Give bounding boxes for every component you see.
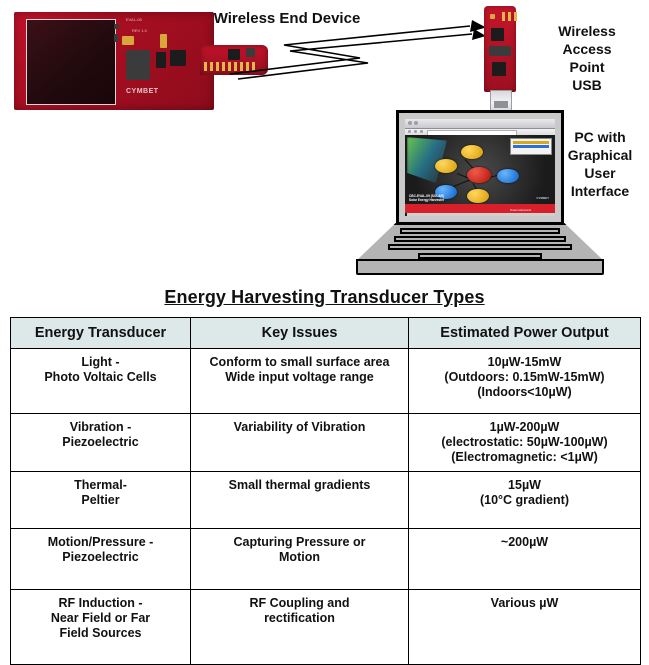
cell-line: Piezoelectric [15, 550, 186, 565]
dongle-ic-2 [489, 46, 511, 56]
gui-legend [510, 138, 552, 155]
cell-line: Motion [195, 550, 404, 565]
graph-node-blue[interactable] [497, 169, 519, 183]
browser-titlebar [405, 119, 555, 129]
table-header-row: Energy Transducer Key Issues Estimated P… [11, 318, 641, 349]
component-small-1 [114, 24, 119, 29]
cell-transducer: RF Induction - Near Field or Far Field S… [11, 590, 191, 665]
cell-key-issues: Small thermal gradients [191, 472, 409, 529]
cell-line: Piezoelectric [15, 435, 186, 450]
label-line: Interface [552, 182, 648, 200]
cell-transducer: Motion/Pressure - Piezoelectric [11, 529, 191, 590]
cell-line: RF Coupling and [195, 596, 404, 611]
cell-line: Thermal- [15, 478, 186, 493]
label-line: Point [528, 58, 646, 76]
graph-node-coordinator[interactable] [467, 167, 491, 183]
silkscreen-text-2: REV 1.0 [132, 28, 147, 33]
component-ic-1 [156, 52, 166, 68]
cell-line: Capturing Pressure or [195, 535, 404, 550]
energy-harvesting-table: Energy Transducer Key Issues Estimated P… [10, 317, 641, 665]
cell-transducer: Thermal- Peltier [11, 472, 191, 529]
silkscreen-text-1: EVAL-08 [126, 17, 142, 22]
label-line: Access [528, 40, 646, 58]
cell-line: Vibration - [15, 420, 186, 435]
cell-line: Conform to small surface area [195, 355, 404, 370]
solar-cell-panel [26, 19, 116, 105]
cell-line: Photo Voltaic Cells [15, 370, 186, 385]
component-gold-2 [160, 34, 167, 48]
harvester-gui: CBC-EVAL-09 (SOLAR) Solar Energy Harvest… [405, 135, 555, 216]
keyboard-row [394, 236, 566, 242]
cell-key-issues: Variability of Vibration [191, 414, 409, 472]
cell-line: (Outdoors: 0.15mW-15mW) [413, 370, 636, 385]
cell-line: (10°C gradient) [413, 493, 636, 508]
cell-line: Near Field or Far [15, 611, 186, 626]
cell-line: 1µW-200µW [413, 420, 636, 435]
laptop-screen: CBC-EVAL-09 (SOLAR) Solar Energy Harvest… [405, 119, 555, 216]
keyboard-row [400, 228, 560, 234]
cell-transducer: Light - Photo Voltaic Cells [11, 349, 191, 414]
browser-statusbar [407, 213, 555, 216]
component-battery [126, 50, 150, 80]
cell-power-output: ~200µW [409, 529, 641, 590]
system-diagram: EVAL-08 REV 1.0 CYMBET [0, 0, 649, 285]
dongle-pads [502, 12, 517, 21]
cell-line: Light - [15, 355, 186, 370]
table-row: Light - Photo Voltaic Cells Conform to s… [11, 349, 641, 414]
graph-node-yellow[interactable] [435, 159, 457, 173]
dongle-led [490, 14, 495, 19]
cell-transducer: Vibration - Piezoelectric [11, 414, 191, 472]
cell-line: 10µW-15mW [413, 355, 636, 370]
gui-vendor-mark: Texas Instruments [510, 209, 531, 212]
cell-line: (Electromagnetic: <1µW) [413, 450, 636, 465]
dongle-ic-3 [492, 62, 506, 76]
cell-key-issues: RF Coupling and rectification [191, 590, 409, 665]
component-ic-2 [170, 50, 186, 66]
keyboard-row [388, 244, 572, 250]
dongle-ic-1 [491, 28, 504, 41]
wireless-access-point-usb-image [484, 6, 516, 118]
cell-power-output: 1µW-200µW (electrostatic: 50µW-100µW) (E… [409, 414, 641, 472]
cell-line: Various µW [413, 596, 636, 611]
component-gold-1 [122, 36, 134, 45]
cell-line: Motion/Pressure - [15, 535, 186, 550]
cell-line: Variability of Vibration [195, 420, 404, 435]
table-row: Vibration - Piezoelectric Variability of… [11, 414, 641, 472]
gui-vendor-bar [405, 204, 555, 213]
cell-line: ~200µW [413, 535, 636, 550]
cell-line: Peltier [15, 493, 186, 508]
column-header-energy-transducer: Energy Transducer [11, 318, 191, 349]
cell-line: Field Sources [15, 626, 186, 641]
cymbet-logo-text: CYMBET [126, 88, 159, 95]
page-title: Energy Harvesting Transducer Types [0, 287, 649, 308]
cell-line: (electrostatic: 50µW-100µW) [413, 435, 636, 450]
cell-line: RF Induction - [15, 596, 186, 611]
cell-line: Wide input voltage range [195, 370, 404, 385]
label-wireless-access-point-usb: Wireless Access Point USB [528, 22, 646, 94]
component-small-2 [114, 34, 118, 42]
column-header-key-issues: Key Issues [191, 318, 409, 349]
dongle-pcb [484, 6, 516, 92]
graph-node-yellow[interactable] [461, 145, 483, 159]
label-pc-with-gui: PC with Graphical User Interface [552, 128, 648, 200]
label-line: Wireless [528, 22, 646, 40]
cell-line: (Indoors<10µW) [413, 385, 636, 400]
column-header-estimated-power-output: Estimated Power Output [409, 318, 641, 349]
laptop-base [356, 223, 604, 275]
cell-power-output: 15µW (10°C gradient) [409, 472, 641, 529]
table-row: Thermal- Peltier Small thermal gradients… [11, 472, 641, 529]
cell-line: 15µW [413, 478, 636, 493]
cell-key-issues: Conform to small surface area Wide input… [191, 349, 409, 414]
table-row: RF Induction - Near Field or Far Field S… [11, 590, 641, 665]
cell-line: Small thermal gradients [195, 478, 404, 493]
table-row: Motion/Pressure - Piezoelectric Capturin… [11, 529, 641, 590]
graph-node-yellow[interactable] [467, 189, 489, 203]
gui-cymbet-logo: CYMBET [536, 196, 549, 200]
cell-power-output: 10µW-15mW (Outdoors: 0.15mW-15mW) (Indoo… [409, 349, 641, 414]
laptop-lid: CBC-EVAL-09 (SOLAR) Solar Energy Harvest… [396, 110, 564, 225]
label-line: USB [528, 76, 646, 94]
label-wireless-end-device: Wireless End Device [192, 10, 382, 28]
pcb-substrate: EVAL-08 REV 1.0 CYMBET [14, 12, 214, 110]
cell-line: rectification [195, 611, 404, 626]
cell-power-output: Various µW [409, 590, 641, 665]
label-line: User [552, 164, 648, 182]
label-line: PC with [552, 128, 648, 146]
label-line: Graphical [552, 146, 648, 164]
cell-key-issues: Capturing Pressure or Motion [191, 529, 409, 590]
laptop-front-edge [356, 259, 604, 275]
gui-title: CBC-EVAL-09 (SOLAR) Solar Energy Harvest… [409, 194, 444, 202]
